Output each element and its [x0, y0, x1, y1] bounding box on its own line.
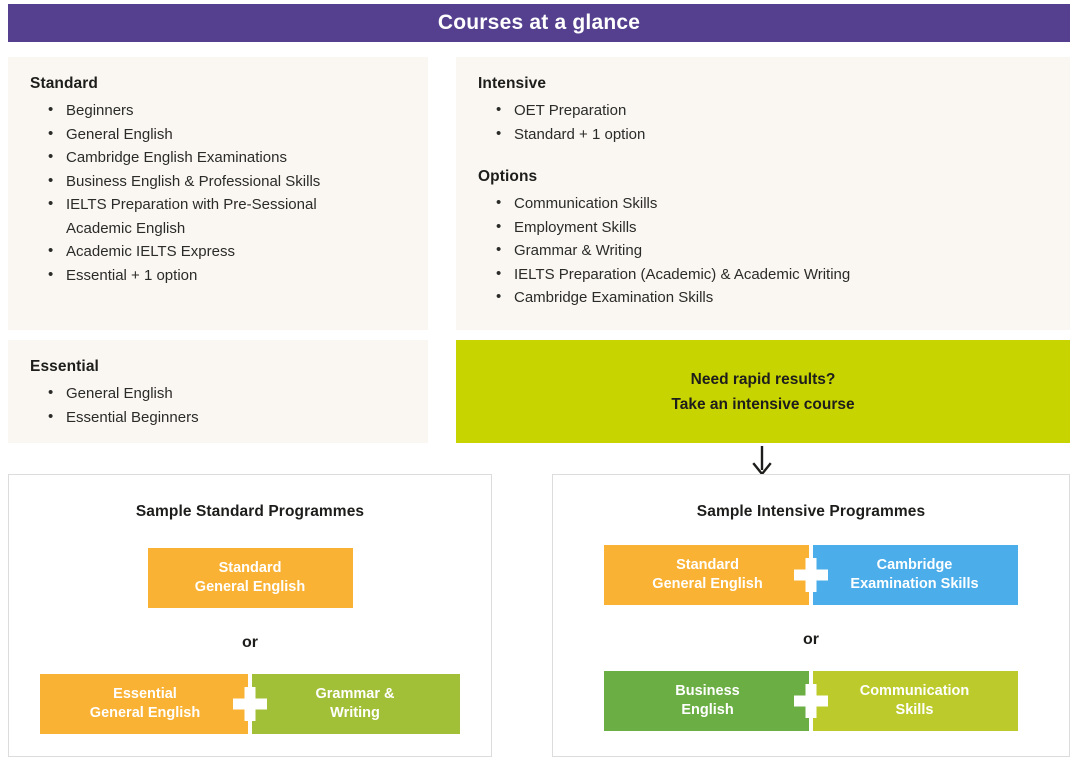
- plus-icon: [233, 687, 267, 721]
- programme-block: Grammar & Writing: [250, 674, 460, 734]
- list-item: Communication Skills: [494, 192, 1050, 216]
- programme-block: Essential General English: [40, 674, 250, 734]
- programme-combo-intensive-2: Business English Communication Skills: [604, 671, 1018, 731]
- programme-block-line-2: General English: [90, 704, 200, 723]
- programme-combo-intensive-1: Standard General English Cambridge Exami…: [604, 545, 1018, 605]
- list-item: Essential Beginners: [46, 406, 408, 430]
- list-item-label: IELTS Preparation with Pre-Sessional: [66, 193, 408, 217]
- list-item: General English: [46, 382, 408, 406]
- callout-rapid-results: Need rapid results? Take an intensive co…: [456, 340, 1070, 443]
- programme-block-line-1: Communication: [860, 682, 970, 701]
- card-essential-list: General English Essential Beginners: [30, 382, 408, 429]
- card-essential: Essential General English Essential Begi…: [8, 340, 428, 443]
- programme-block: Cambridge Examination Skills: [811, 545, 1018, 605]
- programme-block-line-2: Writing: [330, 704, 380, 723]
- page-title-bar: Courses at a glance: [8, 4, 1070, 42]
- list-item: Grammar & Writing: [494, 239, 1050, 263]
- card-options-heading: Options: [478, 168, 1050, 186]
- courses-at-a-glance-infographic: Courses at a glance Standard Beginners G…: [0, 0, 1078, 763]
- list-item: OET Preparation: [494, 99, 1050, 123]
- list-item-label: Business English & Professional Skills: [66, 173, 320, 190]
- programme-block: Standard General English: [148, 548, 353, 608]
- list-item-label: Beginners: [66, 102, 134, 119]
- list-item-label: IELTS Preparation (Academic) & Academic …: [514, 266, 850, 283]
- programme-combo-standard-2: Essential General English Grammar & Writ…: [40, 674, 460, 734]
- programme-block-line-2: General English: [652, 575, 762, 594]
- programme-block-line-1: Standard: [676, 556, 739, 575]
- programme-combo-standard-1: Standard General English: [148, 548, 353, 608]
- or-separator-intensive: or: [553, 631, 1069, 649]
- plus-icon: [794, 558, 828, 592]
- list-item: Business English & Professional Skills: [46, 170, 408, 194]
- programme-block-line-1: Business: [675, 682, 739, 701]
- list-item: IELTS Preparation (Academic) & Academic …: [494, 263, 1050, 287]
- panel-intensive-title: Sample Intensive Programmes: [553, 503, 1069, 521]
- panel-sample-standard-programmes: Sample Standard Programmes Standard Gene…: [8, 474, 492, 757]
- card-essential-heading: Essential: [30, 358, 408, 376]
- programme-block-line-1: Cambridge: [877, 556, 953, 575]
- list-item-label: Grammar & Writing: [514, 242, 642, 259]
- list-item: Cambridge Examination Skills: [494, 286, 1050, 310]
- programme-block-line-2: General English: [195, 578, 305, 597]
- list-item: Cambridge English Examinations: [46, 146, 408, 170]
- list-item-label: Essential + 1 option: [66, 267, 197, 284]
- card-intensive-list: OET Preparation Standard + 1 option: [478, 99, 1050, 146]
- list-item-label: General English: [66, 385, 173, 402]
- list-item: Essential + 1 option: [46, 264, 408, 288]
- programme-block-line-2: Examination Skills: [850, 575, 978, 594]
- panel-standard-title: Sample Standard Programmes: [9, 503, 491, 521]
- callout-line-1: Need rapid results?: [691, 367, 836, 392]
- list-item-label: Cambridge Examination Skills: [514, 289, 713, 306]
- list-item: Standard + 1 option: [494, 123, 1050, 147]
- page-title: Courses at a glance: [438, 11, 640, 35]
- card-intensive: Intensive OET Preparation Standard + 1 o…: [456, 57, 1070, 330]
- programme-block: Standard General English: [604, 545, 811, 605]
- list-item-label: Essential Beginners: [66, 409, 199, 426]
- list-item: Employment Skills: [494, 216, 1050, 240]
- list-item-label: Communication Skills: [514, 195, 657, 212]
- programme-block-line-2: Skills: [896, 701, 934, 720]
- programme-block-line-1: Grammar &: [316, 685, 395, 704]
- card-standard: Standard Beginners General English Cambr…: [8, 57, 428, 330]
- list-item: General English: [46, 123, 408, 147]
- list-item: IELTS Preparation with Pre-Sessional Aca…: [46, 193, 408, 240]
- list-item: Academic IELTS Express: [46, 240, 408, 264]
- card-standard-list: Beginners General English Cambridge Engl…: [30, 99, 408, 287]
- list-item: Beginners: [46, 99, 408, 123]
- card-standard-heading: Standard: [30, 75, 408, 93]
- card-options-list: Communication Skills Employment Skills G…: [478, 192, 1050, 310]
- list-item-label: OET Preparation: [514, 102, 626, 119]
- arrow-down-icon: [748, 445, 776, 477]
- programme-block-line-1: Standard: [219, 559, 282, 578]
- list-item-label: Academic IELTS Express: [66, 243, 235, 260]
- list-item-label: Standard + 1 option: [514, 126, 645, 143]
- or-separator-standard: or: [9, 634, 491, 652]
- callout-line-2: Take an intensive course: [671, 392, 854, 417]
- list-item-label: Cambridge English Examinations: [66, 149, 287, 166]
- plus-icon: [794, 684, 828, 718]
- card-intensive-heading: Intensive: [478, 75, 1050, 93]
- programme-block: Communication Skills: [811, 671, 1018, 731]
- list-item-label-continued: Academic English: [66, 217, 408, 241]
- panel-sample-intensive-programmes: Sample Intensive Programmes Standard Gen…: [552, 474, 1070, 757]
- programme-block-line-1: Essential: [113, 685, 177, 704]
- programme-block: Business English: [604, 671, 811, 731]
- programme-block-line-2: English: [681, 701, 733, 720]
- list-item-label: General English: [66, 126, 173, 143]
- list-item-label: Employment Skills: [514, 219, 637, 236]
